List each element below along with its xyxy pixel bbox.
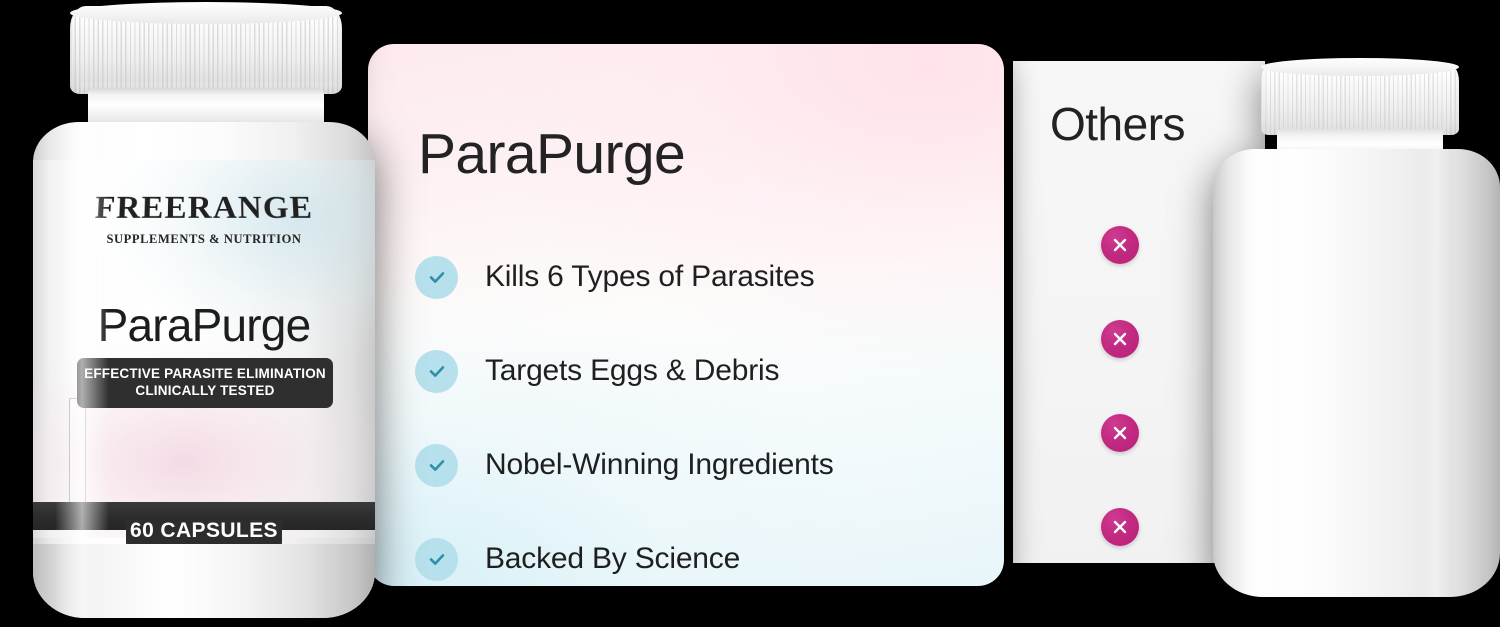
others-panel-title: Others: [1050, 101, 1185, 147]
others-bottle-body: [1213, 149, 1500, 597]
product-comparison-card: ParaPurge Kills 6 Types of Parasites Tar…: [368, 44, 1004, 586]
benefit-label: Nobel-Winning Ingredients: [485, 448, 834, 482]
others-row: [1101, 480, 1139, 574]
check-icon: [415, 350, 458, 393]
benefit-label: Backed By Science: [485, 542, 740, 576]
x-icon: [1101, 226, 1139, 264]
others-row: [1101, 292, 1139, 386]
check-icon: [415, 538, 458, 581]
list-item: Kills 6 Types of Parasites: [415, 230, 975, 324]
check-icon: [415, 256, 458, 299]
product-bottle-body: FREERANGE SUPPLEMENTS & NUTRITION ParaPu…: [33, 122, 375, 618]
check-icon: [415, 444, 458, 487]
benefit-label: Kills 6 Types of Parasites: [485, 260, 814, 294]
product-bottle-cap-top: [70, 2, 342, 24]
brand-name: FREERANGE: [33, 191, 375, 227]
x-icon: [1101, 508, 1139, 546]
brand-subtitle: SUPPLEMENTS & NUTRITION: [33, 232, 375, 247]
list-item: Targets Eggs & Debris: [415, 324, 975, 418]
list-item: Backed By Science: [415, 512, 975, 606]
page-title: ParaPurge: [418, 126, 685, 183]
product-bottle-base: [33, 544, 375, 618]
others-row: [1101, 386, 1139, 480]
x-icon: [1101, 414, 1139, 452]
bottle-tagline: EFFECTIVE PARASITE ELIMINATION CLINICALL…: [77, 358, 333, 408]
x-icon: [1101, 320, 1139, 358]
list-item: Nobel-Winning Ingredients: [415, 418, 975, 512]
product-bottle-label: FREERANGE SUPPLEMENTS & NUTRITION ParaPu…: [33, 160, 375, 538]
others-mark-list: [1101, 198, 1139, 574]
tagline-line-2: CLINICALLY TESTED: [77, 382, 333, 399]
others-bottle: [1213, 55, 1500, 601]
product-bottle: FREERANGE SUPPLEMENTS & NUTRITION ParaPu…: [30, 2, 378, 620]
benefit-list: Kills 6 Types of Parasites Targets Eggs …: [415, 230, 975, 606]
benefit-label: Targets Eggs & Debris: [485, 354, 779, 388]
tagline-line-1: EFFECTIVE PARASITE ELIMINATION: [77, 365, 333, 382]
bottle-product-name: ParaPurge: [33, 298, 375, 352]
others-bottle-highlight-secondary: [1421, 149, 1451, 597]
comparison-graphic: Others: [0, 0, 1500, 627]
others-bottle-highlight: [1239, 149, 1283, 597]
others-bottle-cap-top: [1261, 58, 1459, 76]
others-row: [1101, 198, 1139, 292]
